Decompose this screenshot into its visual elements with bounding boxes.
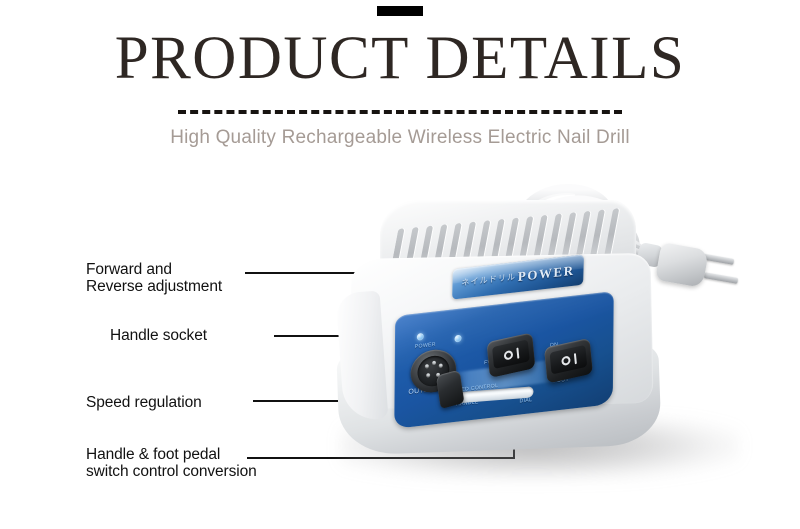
panel-label-power-led: POWER — [415, 342, 436, 350]
rocker-off-icon — [503, 349, 513, 360]
status-indicator-led — [455, 335, 462, 343]
device-body: ネイルドリル POWER OUTPUT POWER SPEED CONTROL … — [334, 200, 646, 468]
socket-pin — [432, 361, 436, 365]
rocker-off-icon — [561, 355, 571, 366]
title-divider — [178, 110, 622, 114]
product-image: ネイルドリル POWER OUTPUT POWER SPEED CONTROL … — [300, 180, 800, 500]
page-title: PRODUCT DETAILS — [0, 26, 800, 92]
callout-label-pedal-switch: Handle & foot pedal switch control conve… — [86, 446, 257, 480]
callout-label-speed-regulation: Speed regulation — [86, 394, 202, 411]
socket-pin — [439, 364, 443, 368]
title-accent-bar — [377, 6, 423, 16]
power-indicator-led — [417, 333, 424, 341]
rocker-face — [550, 345, 588, 375]
socket-pin — [425, 364, 429, 368]
speed-slider-lever[interactable] — [436, 369, 465, 409]
power-plug — [655, 242, 709, 288]
socket-pin — [426, 373, 430, 377]
page-subtitle: High Quality Rechargeable Wireless Elect… — [0, 125, 800, 151]
rocker-on-icon — [573, 353, 576, 364]
rocker-on-icon — [516, 347, 519, 358]
callout-label-handle-socket: Handle socket — [110, 327, 207, 344]
rocker-face — [492, 339, 530, 369]
callout-label-forward-reverse: Forward and Reverse adjustment — [86, 261, 222, 295]
